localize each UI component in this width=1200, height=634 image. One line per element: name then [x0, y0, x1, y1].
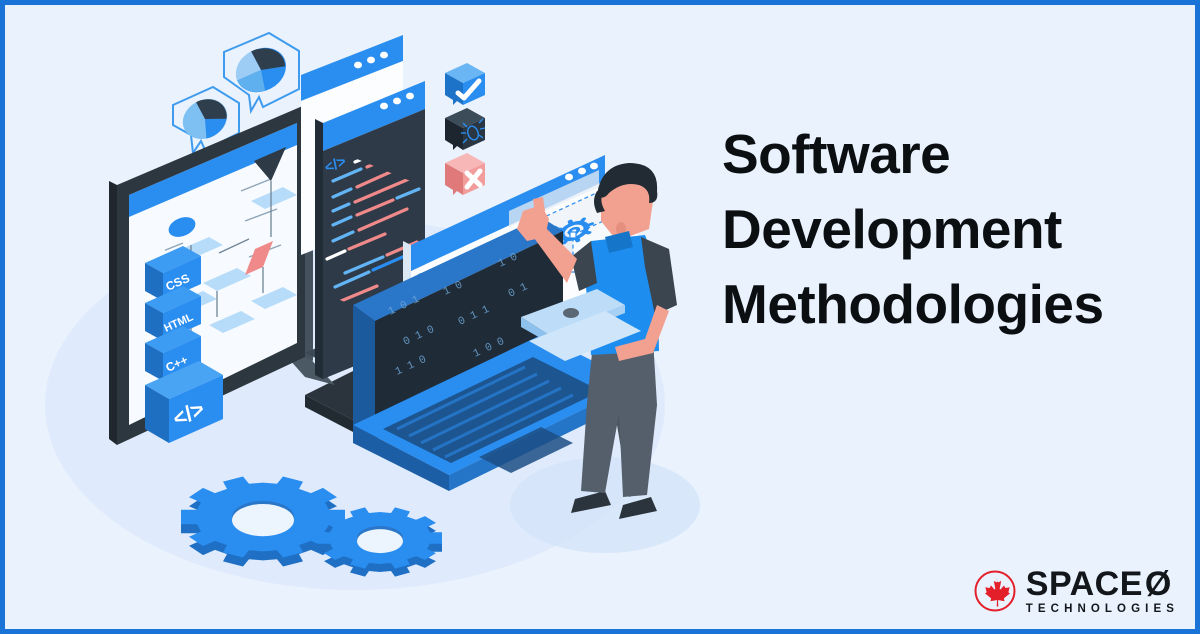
maple-leaf-icon [973, 569, 1017, 613]
logo-tagline: TECHNOLOGIES [1026, 604, 1179, 616]
page-title: Software Development Methodologies [722, 117, 1182, 342]
title-line-2: Development [722, 192, 1182, 267]
logo-brand-symbol: Ø [1145, 567, 1172, 601]
check-tile [445, 63, 485, 105]
bug-tile [445, 108, 485, 150]
pie-callout-large [224, 33, 299, 111]
logo-wordmark: SPACE Ø TECHNOLOGIES [1026, 567, 1179, 616]
illustration: CSS HTML C++ </> [5, 5, 705, 629]
title-line-3: Methodologies [722, 267, 1182, 342]
logo-brand-text: SPACE [1026, 567, 1143, 601]
logo-brand: SPACE Ø [1026, 567, 1179, 601]
banner-root: CSS HTML C++ </> [0, 0, 1200, 634]
error-tile [445, 153, 485, 195]
brand-logo: SPACE Ø TECHNOLOGIES [973, 567, 1179, 616]
gear-large [181, 476, 345, 566]
title-line-1: Software [722, 117, 1182, 192]
gear-small [318, 507, 442, 576]
